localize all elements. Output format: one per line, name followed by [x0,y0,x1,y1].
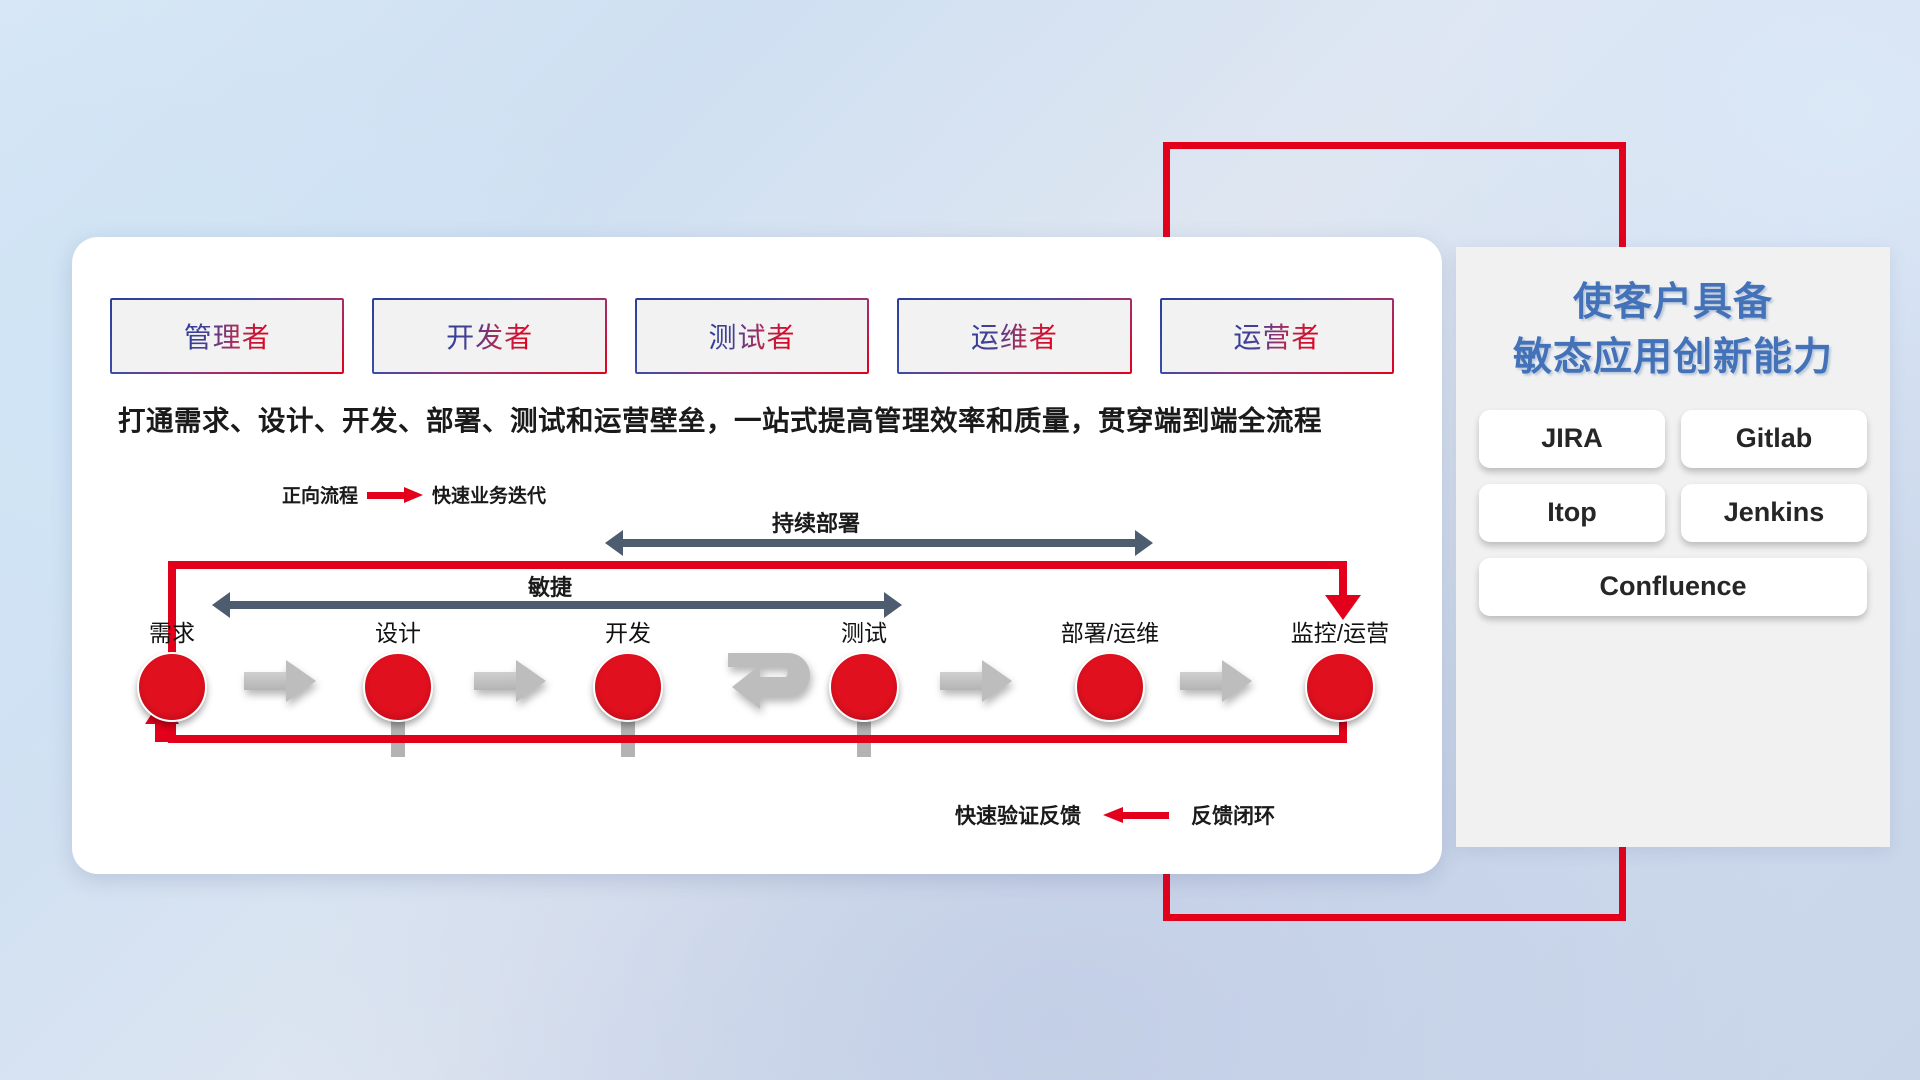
legend-feedback-loop: 快速验证反馈 反馈闭环 [955,800,1275,830]
red-arrow-left-icon [1103,807,1169,823]
role-label: 运维者 [971,316,1058,356]
role-box-developer[interactable]: 开发者 [374,300,604,372]
stage-dot [363,652,433,722]
stage-dot [829,652,899,722]
red-arrow-right-icon [367,487,423,503]
legend-forward-label: 正向流程 [282,481,358,508]
flow-arrow-1 [244,660,316,702]
loop-right-top-segment [1339,561,1347,599]
right-panel: 使客户具备 敏态应用创新能力 JIRA Gitlab Itop Jenkins … [1456,247,1890,847]
stage-dot [137,652,207,722]
legend-fast-validation-label: 快速验证反馈 [955,800,1081,830]
headline-text: 打通需求、设计、开发、部署、测试和运营壁垒，一站式提高管理效率和质量，贯穿端到端… [0,398,1440,438]
tool-list: JIRA Gitlab Itop Jenkins Confluence [1456,410,1890,616]
flow-arrow-4 [940,660,1012,702]
stage-label: 开发 [582,614,674,648]
tool-jira[interactable]: JIRA [1479,410,1665,468]
stage-node-requirement[interactable]: 需求 [126,614,218,722]
role-box-ops[interactable]: 运维者 [899,300,1129,372]
panel-title-line2: 敏态应用创新能力 [1456,330,1890,385]
loop-bottom-segment [168,735,1347,743]
role-box-tester[interactable]: 测试者 [637,300,867,372]
role-box-operator[interactable]: 运营者 [1162,300,1392,372]
stage-node-test[interactable]: 测试 [818,614,910,722]
loop-top-segment [168,561,1347,569]
legend-fast-iteration-label: 快速业务迭代 [432,481,546,508]
stage-node-develop[interactable]: 开发 [582,614,674,722]
role-label: 开发者 [446,316,533,356]
stage-label: 测试 [818,614,910,648]
flow-arrow-5 [1180,660,1252,702]
legend-feedback-label: 反馈闭环 [1191,800,1275,830]
stage-dot [1075,652,1145,722]
stage-label: 监控/运营 [1260,614,1420,648]
flow-arrow-2 [474,660,546,702]
role-label: 运营者 [1233,316,1320,356]
role-box-row: 管理者 开发者 测试者 运维者 运营者 [112,300,1392,372]
stage-label: 需求 [126,614,218,648]
role-box-manager[interactable]: 管理者 [112,300,342,372]
stage-node-monitor-operate[interactable]: 监控/运营 [1260,614,1420,722]
stage-label: 部署/运维 [1030,614,1190,648]
tool-confluence[interactable]: Confluence [1479,558,1867,616]
stage-node-design[interactable]: 设计 [352,614,444,722]
continuous-deploy-arrow [605,530,1153,556]
tool-gitlab[interactable]: Gitlab [1681,410,1867,468]
legend-forward-flow: 正向流程 快速业务迭代 [282,481,546,508]
panel-title: 使客户具备 敏态应用创新能力 [1456,247,1890,386]
panel-title-line1: 使客户具备 [1456,275,1890,330]
stage-node-deploy-ops[interactable]: 部署/运维 [1030,614,1190,722]
tool-jenkins[interactable]: Jenkins [1681,484,1867,542]
stage-dot [1305,652,1375,722]
tool-itop[interactable]: Itop [1479,484,1665,542]
stage-dot [593,652,663,722]
agile-arrow [212,592,902,618]
role-label: 管理者 [184,316,271,356]
role-label: 测试者 [709,316,796,356]
uturn-loop-arrow-icon [726,647,830,719]
stage-label: 设计 [352,614,444,648]
